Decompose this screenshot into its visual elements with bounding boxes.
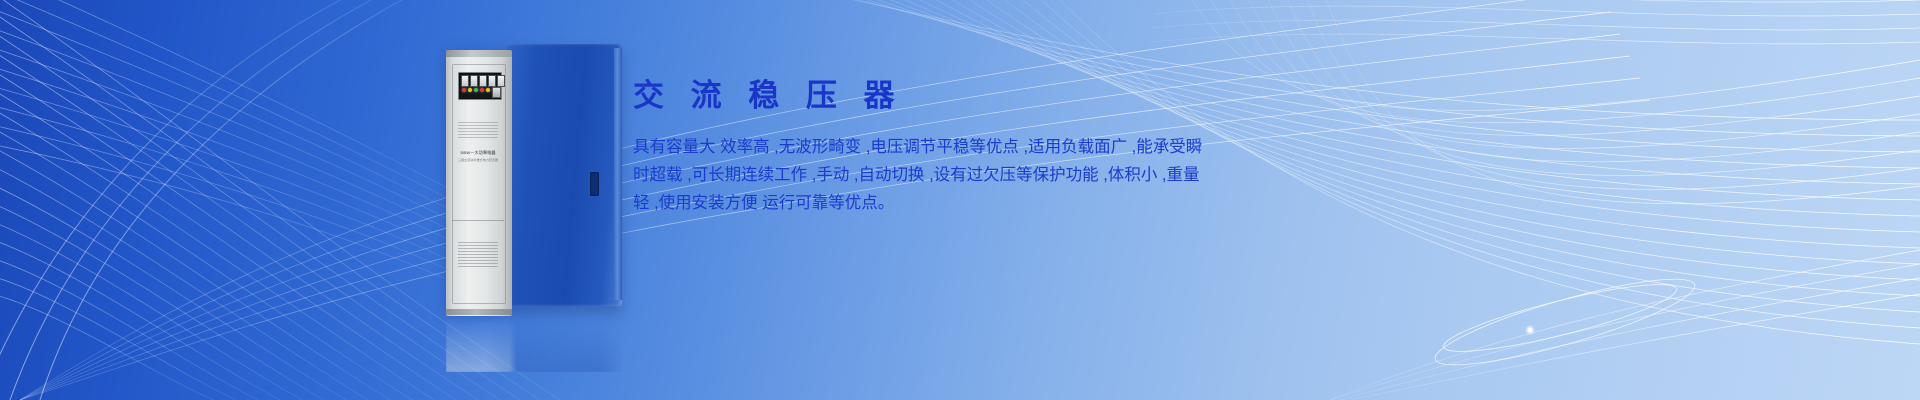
banner-description: 具有容量大 效率高 ,无波形畸变 ,电压调节平稳等优点 ,适用负载面广 ,能承受…: [633, 133, 1393, 217]
lamp-red-2-icon: [480, 88, 484, 92]
cabinet-top-trim: [446, 50, 512, 57]
description-line-3: 轻 ,使用安装方便 运行可靠等优点。: [633, 189, 1393, 217]
banner-copy: 交 流 稳 压 器 具有容量大 效率高 ,无波形畸变 ,电压调节平稳等优点 ,适…: [633, 80, 1393, 217]
analog-meter: [488, 75, 496, 87]
lamp-green-1-icon: [474, 88, 478, 92]
nameplate-model: SBW－大功率电器: [454, 150, 502, 155]
cabinet-door-seam: [452, 64, 506, 304]
cabinet-lower-seam: [452, 220, 504, 221]
lamp-red-1-icon: [462, 88, 466, 92]
control-panel: [458, 72, 502, 100]
cabinet-floor-reflection: [446, 316, 622, 372]
cabinet-side-edge: [614, 48, 622, 300]
analog-meter: [479, 75, 487, 87]
description-line-1: 具有容量大 效率高 ,无波形畸变 ,电压调节平稳等优点 ,适用负载面广 ,能承受…: [633, 133, 1393, 161]
cabinet-upper-vents: [458, 122, 498, 138]
lamp-yellow-1-icon: [468, 88, 472, 92]
analog-meter: [497, 75, 505, 87]
cabinet-door-handle: [590, 172, 599, 196]
panel-switch: [492, 87, 501, 98]
description-line-2: 时超载 ,可长期连续工作 ,手动 ,自动切换 ,设有过欠压等保护功能 ,体积小 …: [633, 161, 1393, 189]
cabinet-base-trim: [446, 309, 512, 315]
lamp-yellow-2-icon: [486, 88, 490, 92]
cabinet-nameplate: SBW－大功率电器 三相全自动补偿式电力稳压器: [454, 150, 502, 162]
cabinet-lower-vents: [458, 242, 498, 268]
cabinet-side-panel: [507, 44, 622, 306]
product-banner: SBW－大功率电器 三相全自动补偿式电力稳压器 交 流 稳 压 器 具有容量大 …: [0, 0, 1920, 400]
sparkle-dot: [1525, 325, 1536, 336]
meter-row: [461, 75, 505, 87]
product-image-voltage-stabilizer: SBW－大功率电器 三相全自动补偿式电力稳压器: [444, 44, 622, 316]
nameplate-description: 三相全自动补偿式电力稳压器: [454, 158, 502, 162]
analog-meter: [461, 75, 469, 87]
indicator-lamp-row: [462, 88, 496, 92]
banner-headline: 交 流 稳 压 器: [633, 80, 1393, 111]
analog-meter: [470, 75, 478, 87]
